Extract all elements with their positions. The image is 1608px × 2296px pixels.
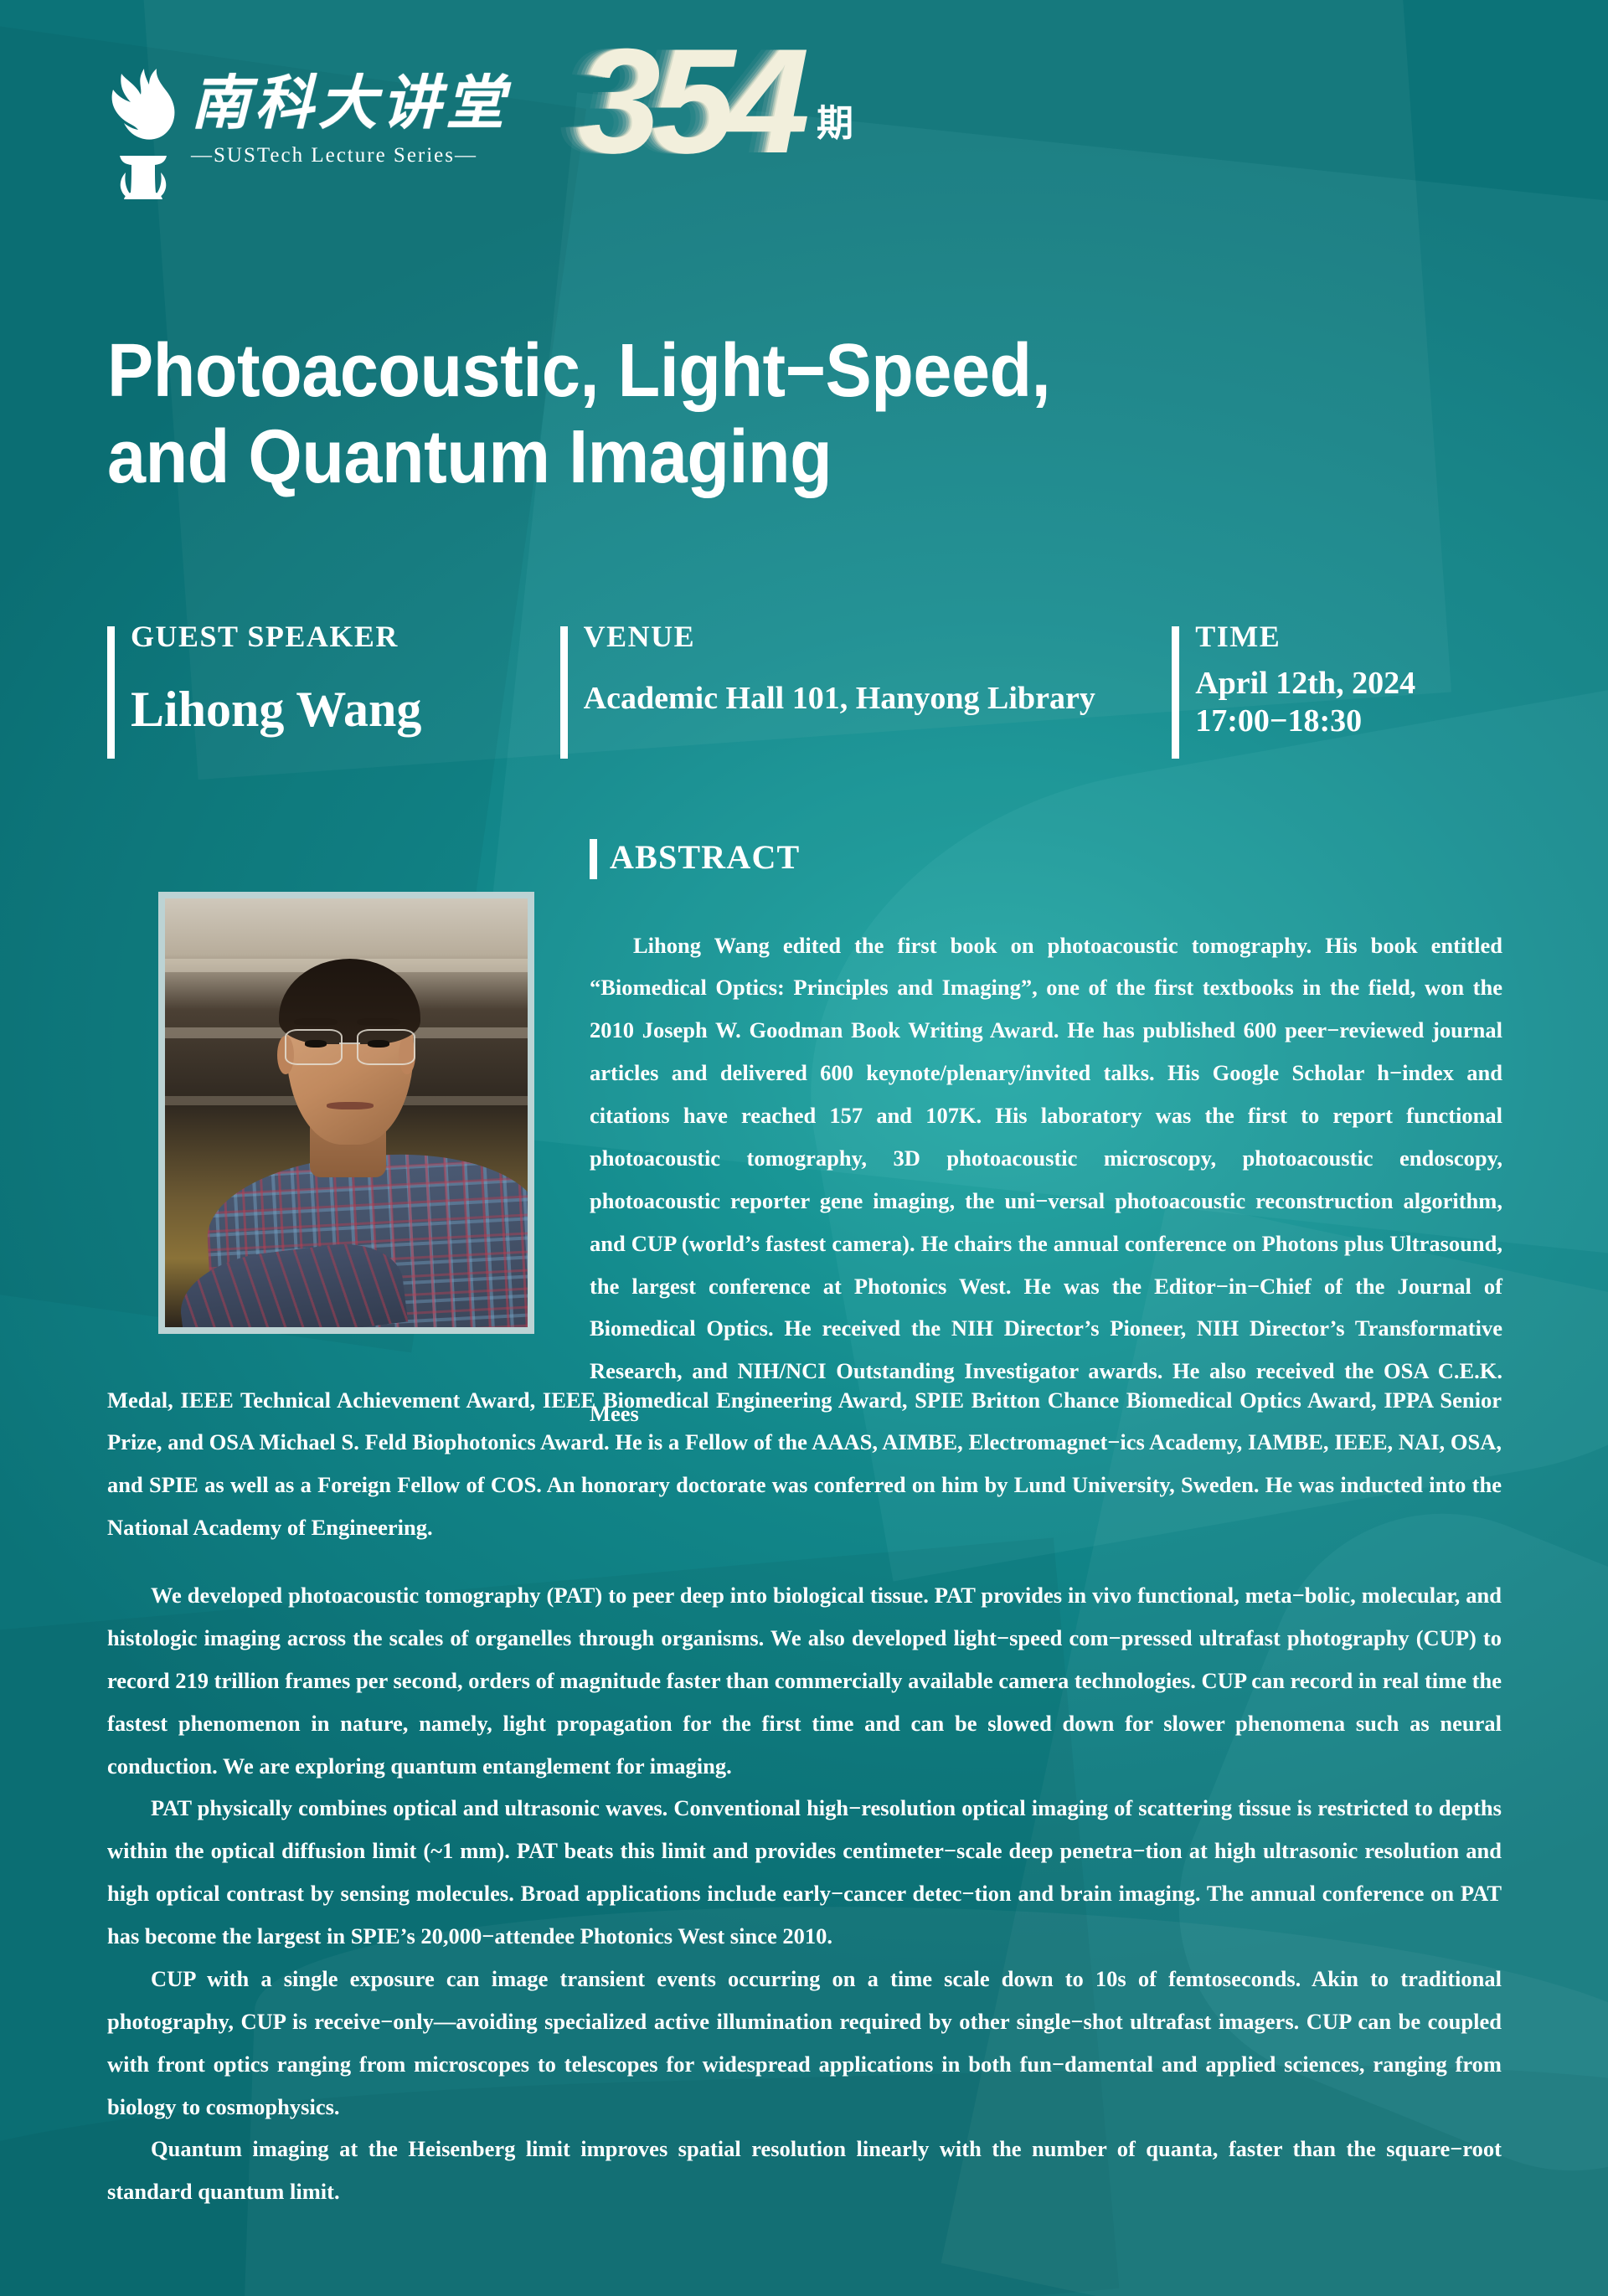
- venue-label: VENUE: [584, 621, 1172, 651]
- lecture-series-logo: 南科大讲堂 —SUSTech Lecture Series—: [107, 65, 509, 208]
- abstract-paragraph: CUP with a single exposure can image tra…: [107, 1958, 1502, 2129]
- portrait-photo: [165, 898, 528, 1327]
- speaker-portrait: [158, 892, 534, 1334]
- portrait-eye-right: [368, 1040, 389, 1048]
- time-hours: 17:00−18:30: [1195, 703, 1497, 740]
- guest-speaker-name: Lihong Wang: [131, 680, 560, 739]
- abstract-paragraph: We developed photoacoustic tomography (P…: [107, 1574, 1502, 1787]
- abstract-paragraph: Quantum imaging at the Heisenberg limit …: [107, 2128, 1502, 2213]
- poster-header: 南科大讲堂 —SUSTech Lecture Series— 354 期: [0, 0, 1608, 251]
- event-meta-row: GUEST SPEAKER Lihong Wang VENUE Academic…: [107, 621, 1497, 780]
- time-date: April 12th, 2024: [1195, 665, 1497, 703]
- torch-flame-icon: [107, 65, 179, 208]
- abstract-body: We developed photoacoustic tomography (P…: [107, 1574, 1502, 2213]
- portrait-brow-right: [357, 1018, 400, 1025]
- time-label: TIME: [1195, 621, 1497, 651]
- accent-bar: [1172, 626, 1179, 759]
- abstract-heading: ABSTRACT: [590, 837, 800, 877]
- portrait-eye-left: [305, 1040, 327, 1048]
- guest-speaker-label: GUEST SPEAKER: [131, 621, 560, 651]
- abstract-paragraph: PAT physically combines optical and ultr…: [107, 1787, 1502, 1958]
- accent-bar: [107, 626, 115, 759]
- accent-bar: [590, 839, 597, 879]
- accent-bar: [560, 626, 568, 759]
- venue-value: Academic Hall 101, Hanyong Library: [584, 680, 1172, 718]
- logo-chinese-title: 南科大讲堂: [191, 75, 509, 134]
- meta-guest-speaker: GUEST SPEAKER Lihong Wang: [107, 621, 560, 780]
- abstract-heading-label: ABSTRACT: [610, 838, 800, 876]
- abstract-bio-rest: Medal, IEEE Technical Achievement Award,…: [107, 1356, 1502, 1572]
- issue-unit-label: 期: [817, 93, 853, 147]
- portrait-brow-left: [294, 1018, 338, 1025]
- lens-right: [357, 1029, 415, 1064]
- eyeglasses-icon: [285, 1029, 415, 1061]
- issue-number: 354: [578, 37, 801, 165]
- logo-english-subtitle: —SUSTech Lecture Series—: [191, 144, 509, 167]
- page-title-line-2: and Quantum Imaging: [107, 414, 1309, 501]
- abstract-paragraph: Medal, IEEE Technical Achievement Award,…: [107, 1379, 1502, 1550]
- meta-time: TIME April 12th, 2024 17:00−18:30: [1172, 621, 1497, 780]
- portrait-mouth: [327, 1102, 374, 1109]
- page-title: Photoacoustic, Light−Speed, and Quantum …: [107, 328, 1309, 500]
- lens-bridge: [339, 1042, 360, 1044]
- page-title-line-1: Photoacoustic, Light−Speed,: [107, 328, 1309, 414]
- issue-number-block: 354 期: [578, 37, 853, 165]
- meta-venue: VENUE Academic Hall 101, Hanyong Library: [560, 621, 1172, 780]
